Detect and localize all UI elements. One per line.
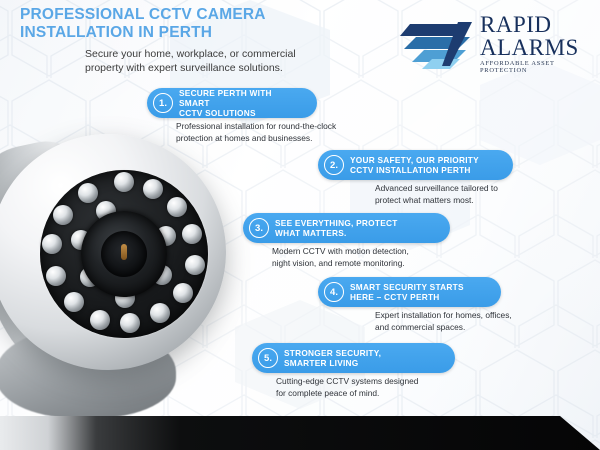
ir-led [143,179,163,199]
step-3-number: 3. [249,218,269,238]
rapid-alarms-logo[interactable]: RAPID ALARMS AFFORDABLE ASSET PROTECTION [398,14,588,76]
step-2-pill[interactable]: 2. YOUR SAFETY, OUR PRIORITY CCTV INSTAL… [318,150,513,180]
camera-dome-housing [0,134,226,370]
ir-led [53,205,73,225]
step-item-3[interactable]: 3. SEE EVERYTHING, PROTECT WHAT MATTERS. [243,213,450,243]
ir-led [185,255,205,275]
step-5-pill[interactable]: 5. STRONGER SECURITY, SMARTER LIVING [252,343,455,373]
ir-led [64,292,84,312]
ir-led [78,183,98,203]
ir-led [90,310,110,330]
step-3-description: Modern CCTV with motion detection, night… [272,245,482,269]
step-1-heading: SECURE PERTH WITH SMART CCTV SOLUTIONS [179,88,301,118]
step-5-number: 5. [258,348,278,368]
step-item-4[interactable]: 4. SMART SECURITY STARTS HERE – CCTV PER… [318,277,501,307]
step-2-description: Advanced surveillance tailored to protec… [375,182,575,206]
bottom-accent-bar [0,416,600,450]
step-item-2[interactable]: 2. YOUR SAFETY, OUR PRIORITY CCTV INSTAL… [318,150,513,180]
page-subtitle: Secure your home, workplace, or commerci… [85,47,325,75]
step-4-number: 4. [324,282,344,302]
cctv-dome-camera-image [0,130,264,420]
step-1-pill[interactable]: 1. SECURE PERTH WITH SMART CCTV SOLUTION… [147,88,317,118]
step-3-heading: SEE EVERYTHING, PROTECT WHAT MATTERS. [275,218,398,238]
logo-tagline: AFFORDABLE ASSET PROTECTION [480,60,588,74]
step-2-heading: YOUR SAFETY, OUR PRIORITY CCTV INSTALLAT… [350,155,479,175]
camera-ir-led-ring [40,170,208,338]
page-title: PROFESSIONAL CCTV CAMERA INSTALLATION IN… [20,6,270,42]
lens-reflection [121,244,127,260]
step-4-heading: SMART SECURITY STARTS HERE – CCTV PERTH [350,282,464,302]
cctv-infographic: PROFESSIONAL CCTV CAMERA INSTALLATION IN… [0,0,600,450]
logo-chevron-mark [398,18,478,70]
ir-led [173,283,193,303]
logo-name-line1: RAPID [480,14,588,36]
ir-led [114,172,134,192]
step-item-1[interactable]: 1. SECURE PERTH WITH SMART CCTV SOLUTION… [147,88,317,118]
ir-led [42,234,62,254]
logo-name-line2: ALARMS [480,36,588,59]
ir-led [167,197,187,217]
ir-led [120,313,140,333]
ir-led [150,303,170,323]
step-5-heading: STRONGER SECURITY, SMARTER LIVING [284,348,381,368]
step-item-5[interactable]: 5. STRONGER SECURITY, SMARTER LIVING [252,343,455,373]
step-2-number: 2. [324,155,344,175]
step-1-description: Professional installation for round-the-… [176,120,376,144]
ir-led [46,266,66,286]
ir-led [182,224,202,244]
step-4-pill[interactable]: 4. SMART SECURITY STARTS HERE – CCTV PER… [318,277,501,307]
step-4-description: Expert installation for homes, offices, … [375,309,585,333]
step-1-number: 1. [153,93,173,113]
step-3-pill[interactable]: 3. SEE EVERYTHING, PROTECT WHAT MATTERS. [243,213,450,243]
step-5-description: Cutting-edge CCTV systems designed for c… [276,375,491,399]
